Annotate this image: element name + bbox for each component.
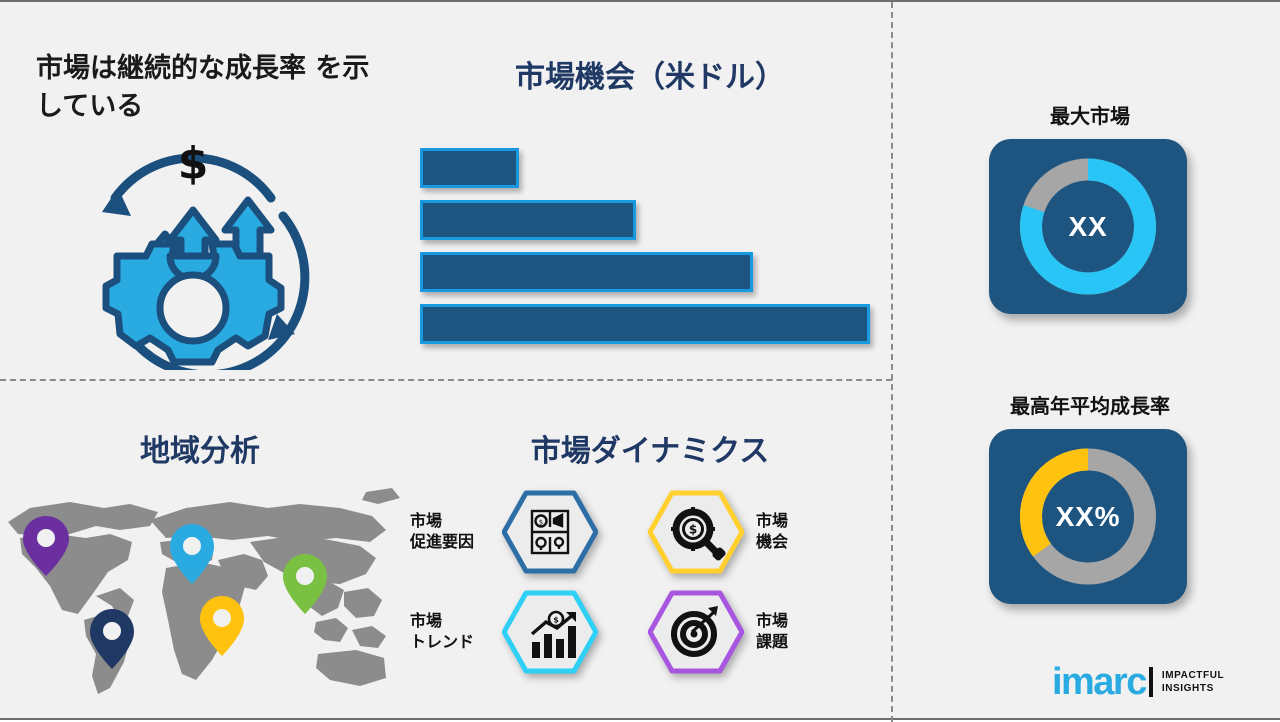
donut-title-1: 最大市場: [940, 100, 1240, 129]
bar-3: [420, 252, 753, 292]
dynamics-item-label: 市場 促進要因: [410, 511, 502, 553]
dynamics-item-1[interactable]: 市場 促進要因 $: [410, 490, 610, 574]
logo-wordmark: imarc: [1052, 663, 1146, 701]
dynamics-item-label: 市場 トレンド: [410, 611, 502, 653]
slide-canvas: 市場は継続的な成長率 を示している $ 市場機会（米ドル）: [0, 0, 1280, 720]
dynamics-item-2[interactable]: $ 市場 機会: [648, 490, 848, 574]
world-map-svg: [0, 464, 400, 699]
logo-tagline: IMPACTFUL INSIGHTS: [1162, 669, 1224, 696]
bar-2: [420, 200, 636, 240]
dollar-sign-label: $: [178, 138, 209, 189]
dynamics-item-3[interactable]: 市場 トレンド $: [410, 590, 610, 674]
puzzle-strategy-icon[interactable]: $: [502, 490, 598, 574]
bar-1: [420, 148, 519, 188]
logo-tagline-line2: INSIGHTS: [1162, 682, 1224, 696]
donut-card-2: XX%: [989, 429, 1187, 604]
magnifier-dollar-icon[interactable]: $: [648, 490, 744, 574]
imarc-logo: imarc IMPACTFUL INSIGHTS: [1052, 660, 1224, 704]
donut-card-1: XX: [989, 139, 1187, 314]
dynamics-title: 市場ダイナミクス: [420, 426, 880, 470]
growth-cycle-gear-icon: $: [62, 130, 324, 370]
donut-value-1: XX: [989, 139, 1187, 314]
vertical-divider: [891, 2, 893, 722]
opportunity-bar-chart: [420, 148, 880, 348]
logo-divider: [1149, 667, 1153, 697]
dynamics-item-4[interactable]: 市場 課題: [648, 590, 848, 674]
donut-value-2: XX%: [989, 429, 1187, 604]
svg-text:$: $: [553, 616, 559, 625]
target-arrow-icon[interactable]: [648, 590, 744, 674]
opportunity-title: 市場機会（米ドル）: [420, 52, 880, 96]
svg-text:$: $: [539, 519, 543, 527]
logo-tagline-line1: IMPACTFUL: [1162, 669, 1224, 683]
dynamics-item-label: 市場 課題: [744, 611, 848, 653]
world-map: [0, 464, 400, 699]
horizontal-divider: [0, 379, 892, 381]
dynamics-item-label: 市場 機会: [744, 511, 848, 553]
growth-title: 市場は継続的な成長率 を示している: [36, 50, 396, 126]
growth-chart-dollar-icon[interactable]: $: [502, 590, 598, 674]
donut-title-2: 最高年平均成長率: [940, 390, 1240, 419]
bar-4: [420, 304, 870, 344]
svg-text:$: $: [689, 523, 697, 537]
